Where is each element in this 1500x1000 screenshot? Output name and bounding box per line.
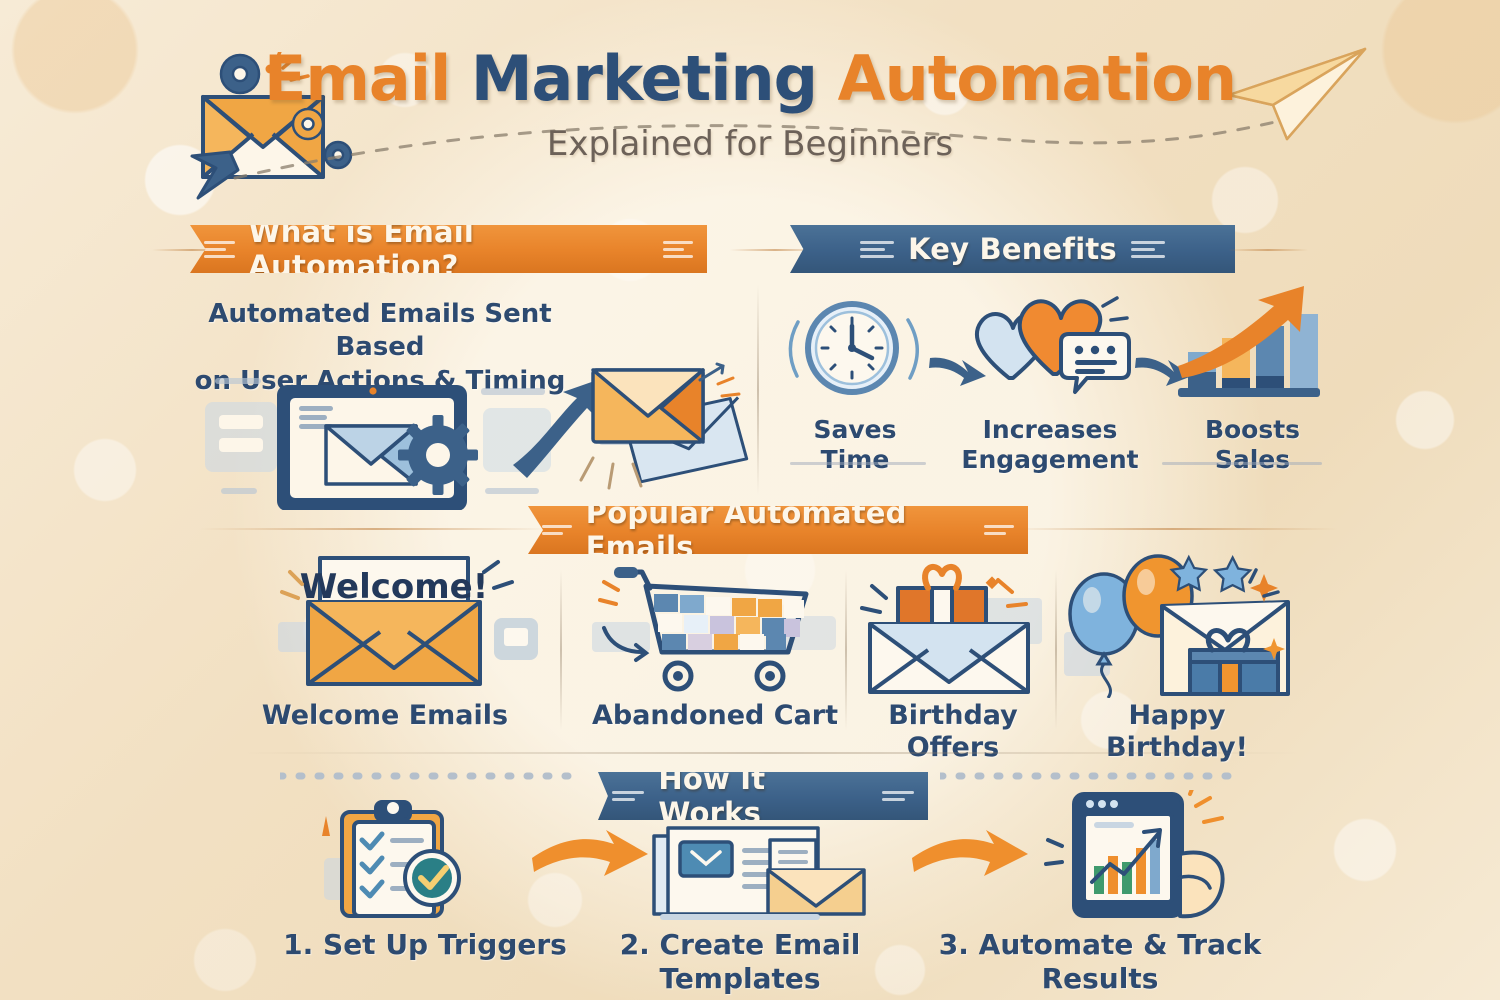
ribbon-deco-left bbox=[542, 525, 572, 535]
popular-icon-happy-birthday bbox=[1042, 552, 1292, 698]
ribbon-label: What is Email Automation? bbox=[249, 215, 649, 283]
benefit-underline-3 bbox=[1162, 462, 1322, 465]
benefit-label-increases-engagement: Increases Engagement bbox=[955, 415, 1145, 475]
popular-divider-2 bbox=[845, 570, 847, 730]
page-subtitle: Explained for Beginners bbox=[0, 124, 1500, 164]
benefit-icon-boosts-sales bbox=[1170, 280, 1330, 402]
dotted-rule-left bbox=[280, 766, 580, 786]
title-part-3: Automation bbox=[838, 42, 1236, 115]
step-connector-arrow-1 bbox=[530, 828, 650, 884]
step-connector-arrow-2 bbox=[910, 828, 1030, 884]
ribbon-deco-right bbox=[1131, 241, 1165, 258]
ribbon-deco-right bbox=[984, 525, 1014, 535]
section-vertical-divider bbox=[757, 285, 759, 495]
benefit-label-line-1: Increases bbox=[955, 415, 1145, 445]
ribbon-deco-right bbox=[663, 241, 694, 258]
popular-icon-welcome-emails: Welcome! bbox=[272, 550, 552, 698]
infographic-poster: Email Marketing Automation Explained for… bbox=[0, 0, 1500, 1000]
benefit-icon-saves-time bbox=[780, 292, 930, 402]
ribbon-deco-left bbox=[612, 791, 644, 801]
ribbon-popular-automated-emails: Popular Automated Emails bbox=[528, 506, 1028, 554]
lead-line-1: Automated Emails Sent Based bbox=[170, 298, 590, 365]
popular-label-birthday-offers: Birthday Offers bbox=[848, 700, 1058, 765]
page-title: Email Marketing Automation bbox=[0, 48, 1500, 110]
ribbon-what-is-email-automation: What is Email Automation? bbox=[190, 225, 707, 273]
benefit-label-saves-time: Saves Time bbox=[775, 415, 935, 475]
benefit-underline-1 bbox=[790, 462, 926, 465]
step-icon-automate-track-results bbox=[1040, 790, 1240, 920]
step-label-2: 2. Create Email Templates bbox=[575, 928, 905, 995]
popular-label-abandoned-cart: Abandoned Cart bbox=[590, 700, 840, 732]
benefit-label-line-2: Engagement bbox=[955, 445, 1145, 475]
title-part-2: Marketing bbox=[471, 42, 838, 115]
step-icon-create-email-templates bbox=[650, 818, 880, 922]
ribbon-how-it-works: How It Works bbox=[598, 772, 928, 820]
dotted-rule-right bbox=[940, 766, 1240, 786]
popular-icon-abandoned-cart bbox=[592, 552, 842, 698]
section-horizontal-divider bbox=[240, 752, 1300, 754]
ribbon-key-benefits: Key Benefits bbox=[790, 225, 1235, 273]
ribbon-deco-left bbox=[860, 241, 894, 258]
poster-header: Email Marketing Automation Explained for… bbox=[0, 48, 1500, 164]
step-label-3: 3. Automate & Track Results bbox=[920, 928, 1280, 995]
popular-divider-3 bbox=[1055, 570, 1057, 730]
popular-label-welcome-emails: Welcome Emails bbox=[255, 700, 515, 732]
ribbon-deco-right bbox=[882, 791, 914, 801]
popular-icon-birthday-offers bbox=[856, 558, 1056, 698]
popular-label-happy-birthday: Happy Birthday! bbox=[1062, 700, 1292, 765]
what-is-illustration bbox=[195, 360, 755, 510]
step-icon-set-up-triggers bbox=[320, 800, 500, 918]
ribbon-deco-left bbox=[204, 241, 235, 258]
ribbon-rule-right bbox=[1228, 249, 1308, 251]
step-label-1: 1. Set Up Triggers bbox=[280, 928, 570, 962]
ribbon-label: Key Benefits bbox=[908, 232, 1117, 266]
benefit-label-boosts-sales: Boosts Sales bbox=[1165, 415, 1340, 475]
benefit-icon-increases-engagement bbox=[965, 292, 1135, 402]
title-part-1: Email bbox=[264, 42, 471, 115]
ribbon-rule-popular-right bbox=[1008, 528, 1338, 530]
ribbon-rule-popular-left bbox=[200, 528, 550, 530]
popular-divider-1 bbox=[560, 570, 562, 730]
